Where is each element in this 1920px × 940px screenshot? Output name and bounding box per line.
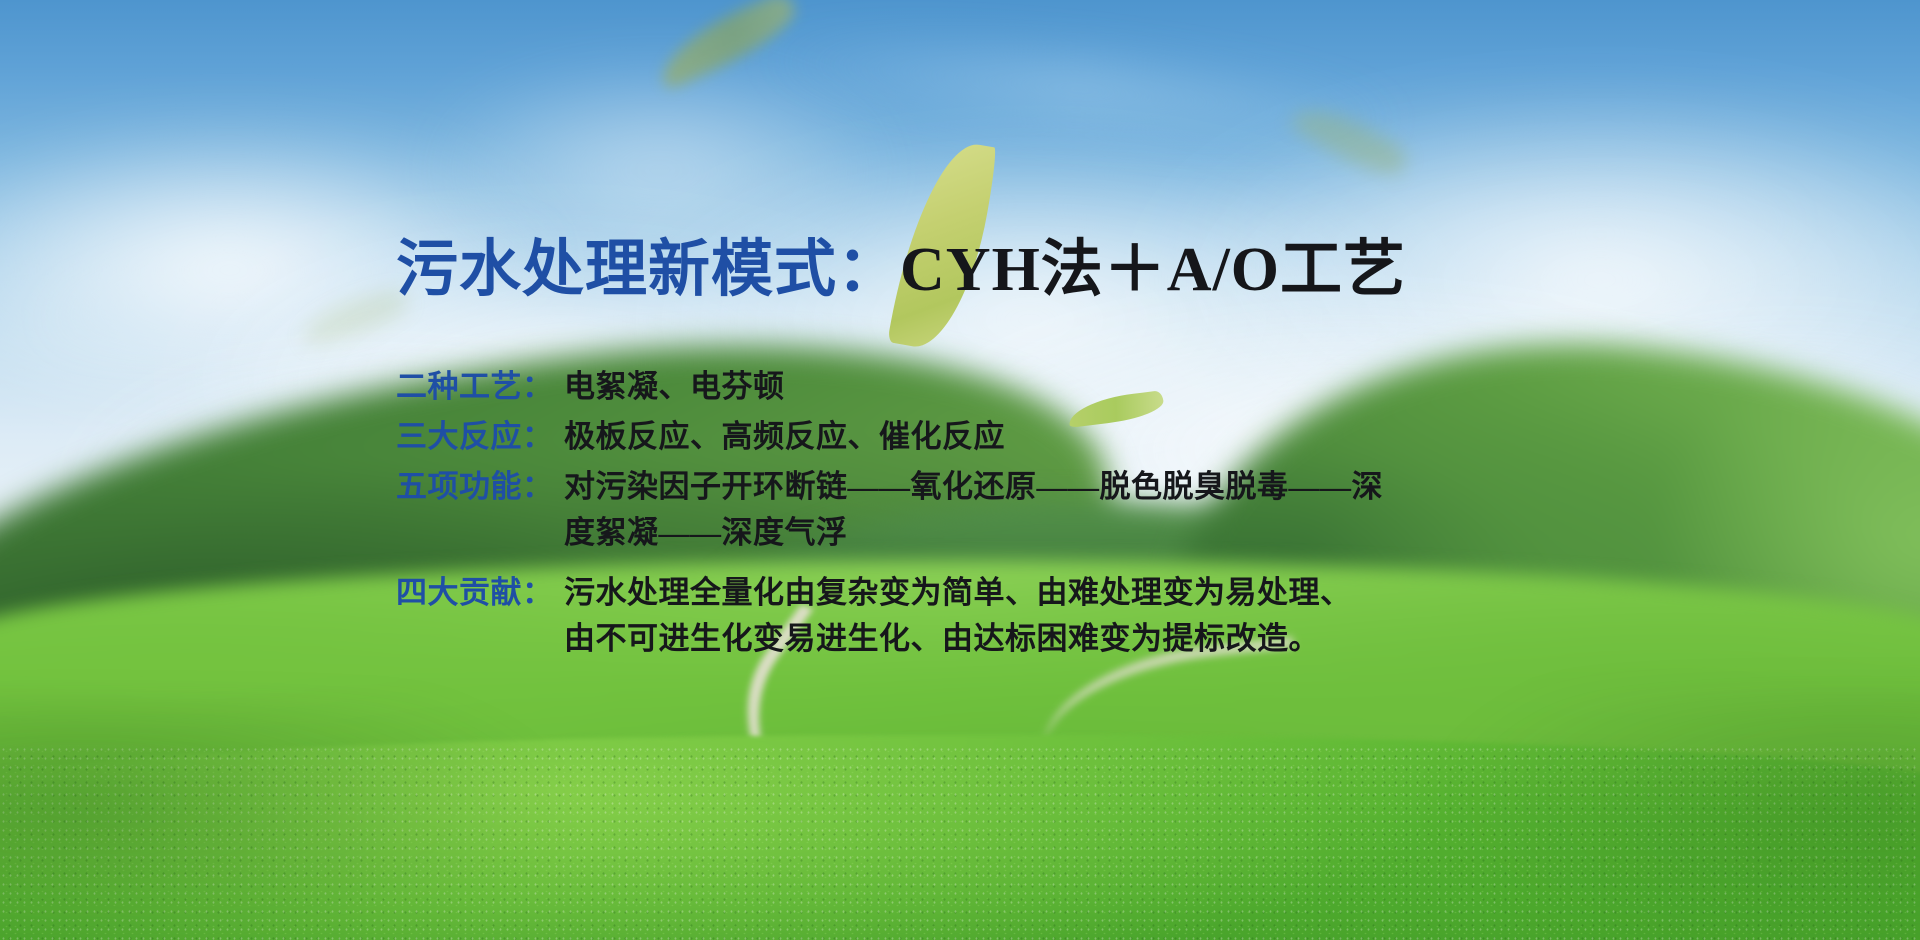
page-title: 污水处理新模式：CYH法＋A/O工艺 bbox=[396, 238, 1406, 303]
bullet-text-line1: 电絮凝、电芬顿 bbox=[564, 369, 785, 404]
title-blue-part: 污水处理新模式： bbox=[396, 236, 900, 304]
bullet-text: 极板反应、高频反应、催化反应 bbox=[564, 414, 1516, 460]
bullet-text-line1: 极板反应、高频反应、催化反应 bbox=[564, 419, 1005, 454]
slide-content: 污水处理新模式：CYH法＋A/O工艺 二种工艺： 电絮凝、电芬顿 三大反应： 极… bbox=[0, 0, 1920, 940]
bullet-row-3: 五项功能： 对污染因子开环断链——氧化还原——脱色脱臭脱毒——深 度絮凝——深度… bbox=[396, 464, 1516, 556]
bullet-list: 二种工艺： 电絮凝、电芬顿 三大反应： 极板反应、高频反应、催化反应 五项功能：… bbox=[396, 364, 1516, 666]
bullet-text-line1: 污水处理全量化由复杂变为简单、由难处理变为易处理、 bbox=[564, 575, 1352, 610]
bullet-label: 三大反应： bbox=[396, 414, 564, 460]
bullet-text-line2: 由不可进生化变易进生化、由达标困难变为提标改造。 bbox=[564, 616, 1516, 662]
bullet-text-line1: 对污染因子开环断链——氧化还原——脱色脱臭脱毒——深 bbox=[564, 469, 1383, 504]
bullet-row-4: 四大贡献： 污水处理全量化由复杂变为简单、由难处理变为易处理、 由不可进生化变易… bbox=[396, 570, 1516, 662]
bullet-spacer bbox=[396, 560, 1516, 570]
bullet-label: 二种工艺： bbox=[396, 364, 564, 410]
bullet-text: 对污染因子开环断链——氧化还原——脱色脱臭脱毒——深 度絮凝——深度气浮 bbox=[564, 464, 1516, 556]
bullet-text: 污水处理全量化由复杂变为简单、由难处理变为易处理、 由不可进生化变易进生化、由达… bbox=[564, 570, 1516, 662]
bullet-text-line2: 度絮凝——深度气浮 bbox=[564, 510, 1516, 556]
slide-canvas: 污水处理新模式：CYH法＋A/O工艺 二种工艺： 电絮凝、电芬顿 三大反应： 极… bbox=[0, 0, 1920, 940]
title-black-part: CYH法＋A/O工艺 bbox=[900, 236, 1406, 304]
bullet-label: 四大贡献： bbox=[396, 570, 564, 616]
bullet-row-2: 三大反应： 极板反应、高频反应、催化反应 bbox=[396, 414, 1516, 460]
bullet-label: 五项功能： bbox=[396, 464, 564, 510]
bullet-text: 电絮凝、电芬顿 bbox=[564, 364, 1516, 410]
bullet-row-1: 二种工艺： 电絮凝、电芬顿 bbox=[396, 364, 1516, 410]
